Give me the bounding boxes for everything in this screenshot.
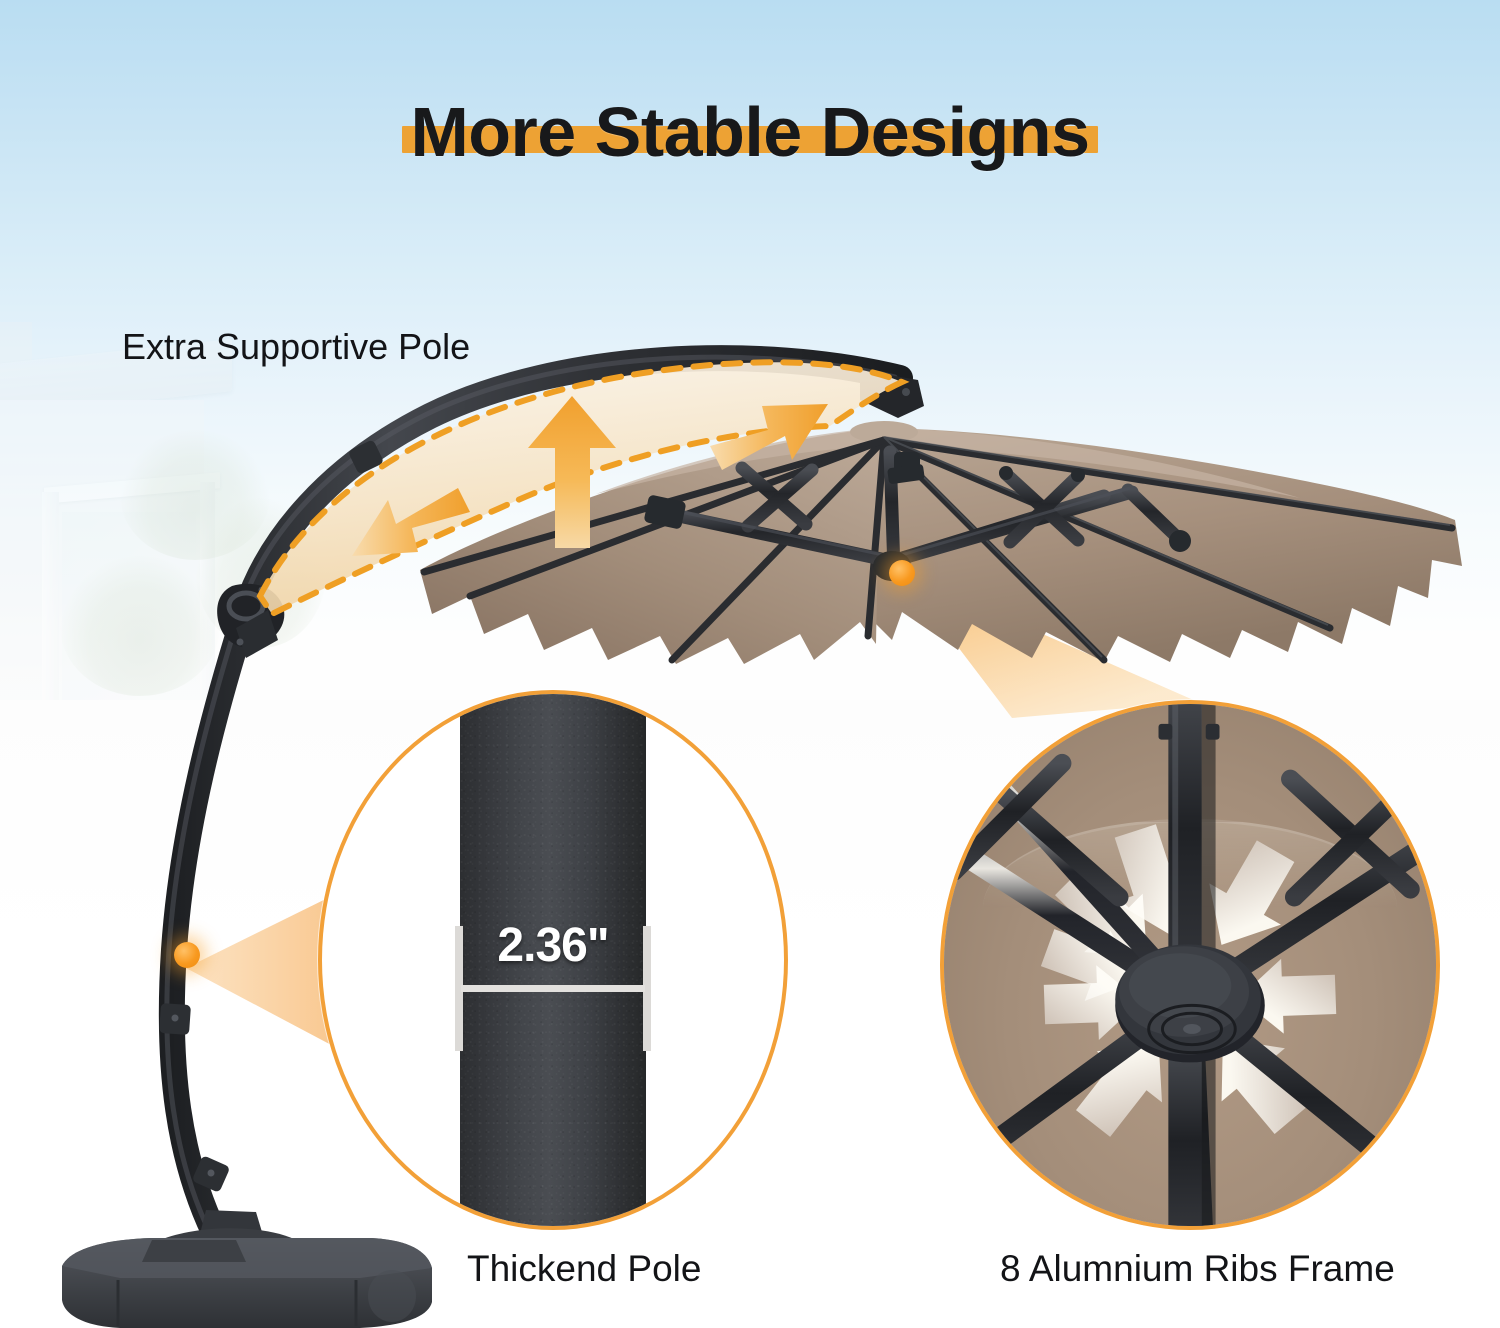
dimension-line xyxy=(461,985,645,992)
callout-dot-icon-ribs[interactable] xyxy=(889,560,915,586)
pole-diameter-value: 2.36" xyxy=(443,922,663,970)
detail-circle-thickend-pole[interactable]: 2.36" xyxy=(318,690,788,1230)
label-ribs-frame: 8 Alumnium Ribs Frame xyxy=(1000,1248,1395,1290)
label-thickend-pole: Thickend Pole xyxy=(467,1248,701,1290)
page-title: More Stable Designs xyxy=(410,97,1089,167)
ribs-closeup-image xyxy=(944,704,1436,1226)
detail-circle-ribs-frame[interactable] xyxy=(940,700,1440,1230)
ribs-frame-svg xyxy=(944,704,1436,1226)
infographic-canvas: More Stable Designs xyxy=(0,0,1500,1328)
umbrella-base xyxy=(62,1238,432,1328)
label-extra-supportive-pole: Extra Supportive Pole xyxy=(122,326,470,368)
callout-dot-icon-pole[interactable] xyxy=(174,942,200,968)
